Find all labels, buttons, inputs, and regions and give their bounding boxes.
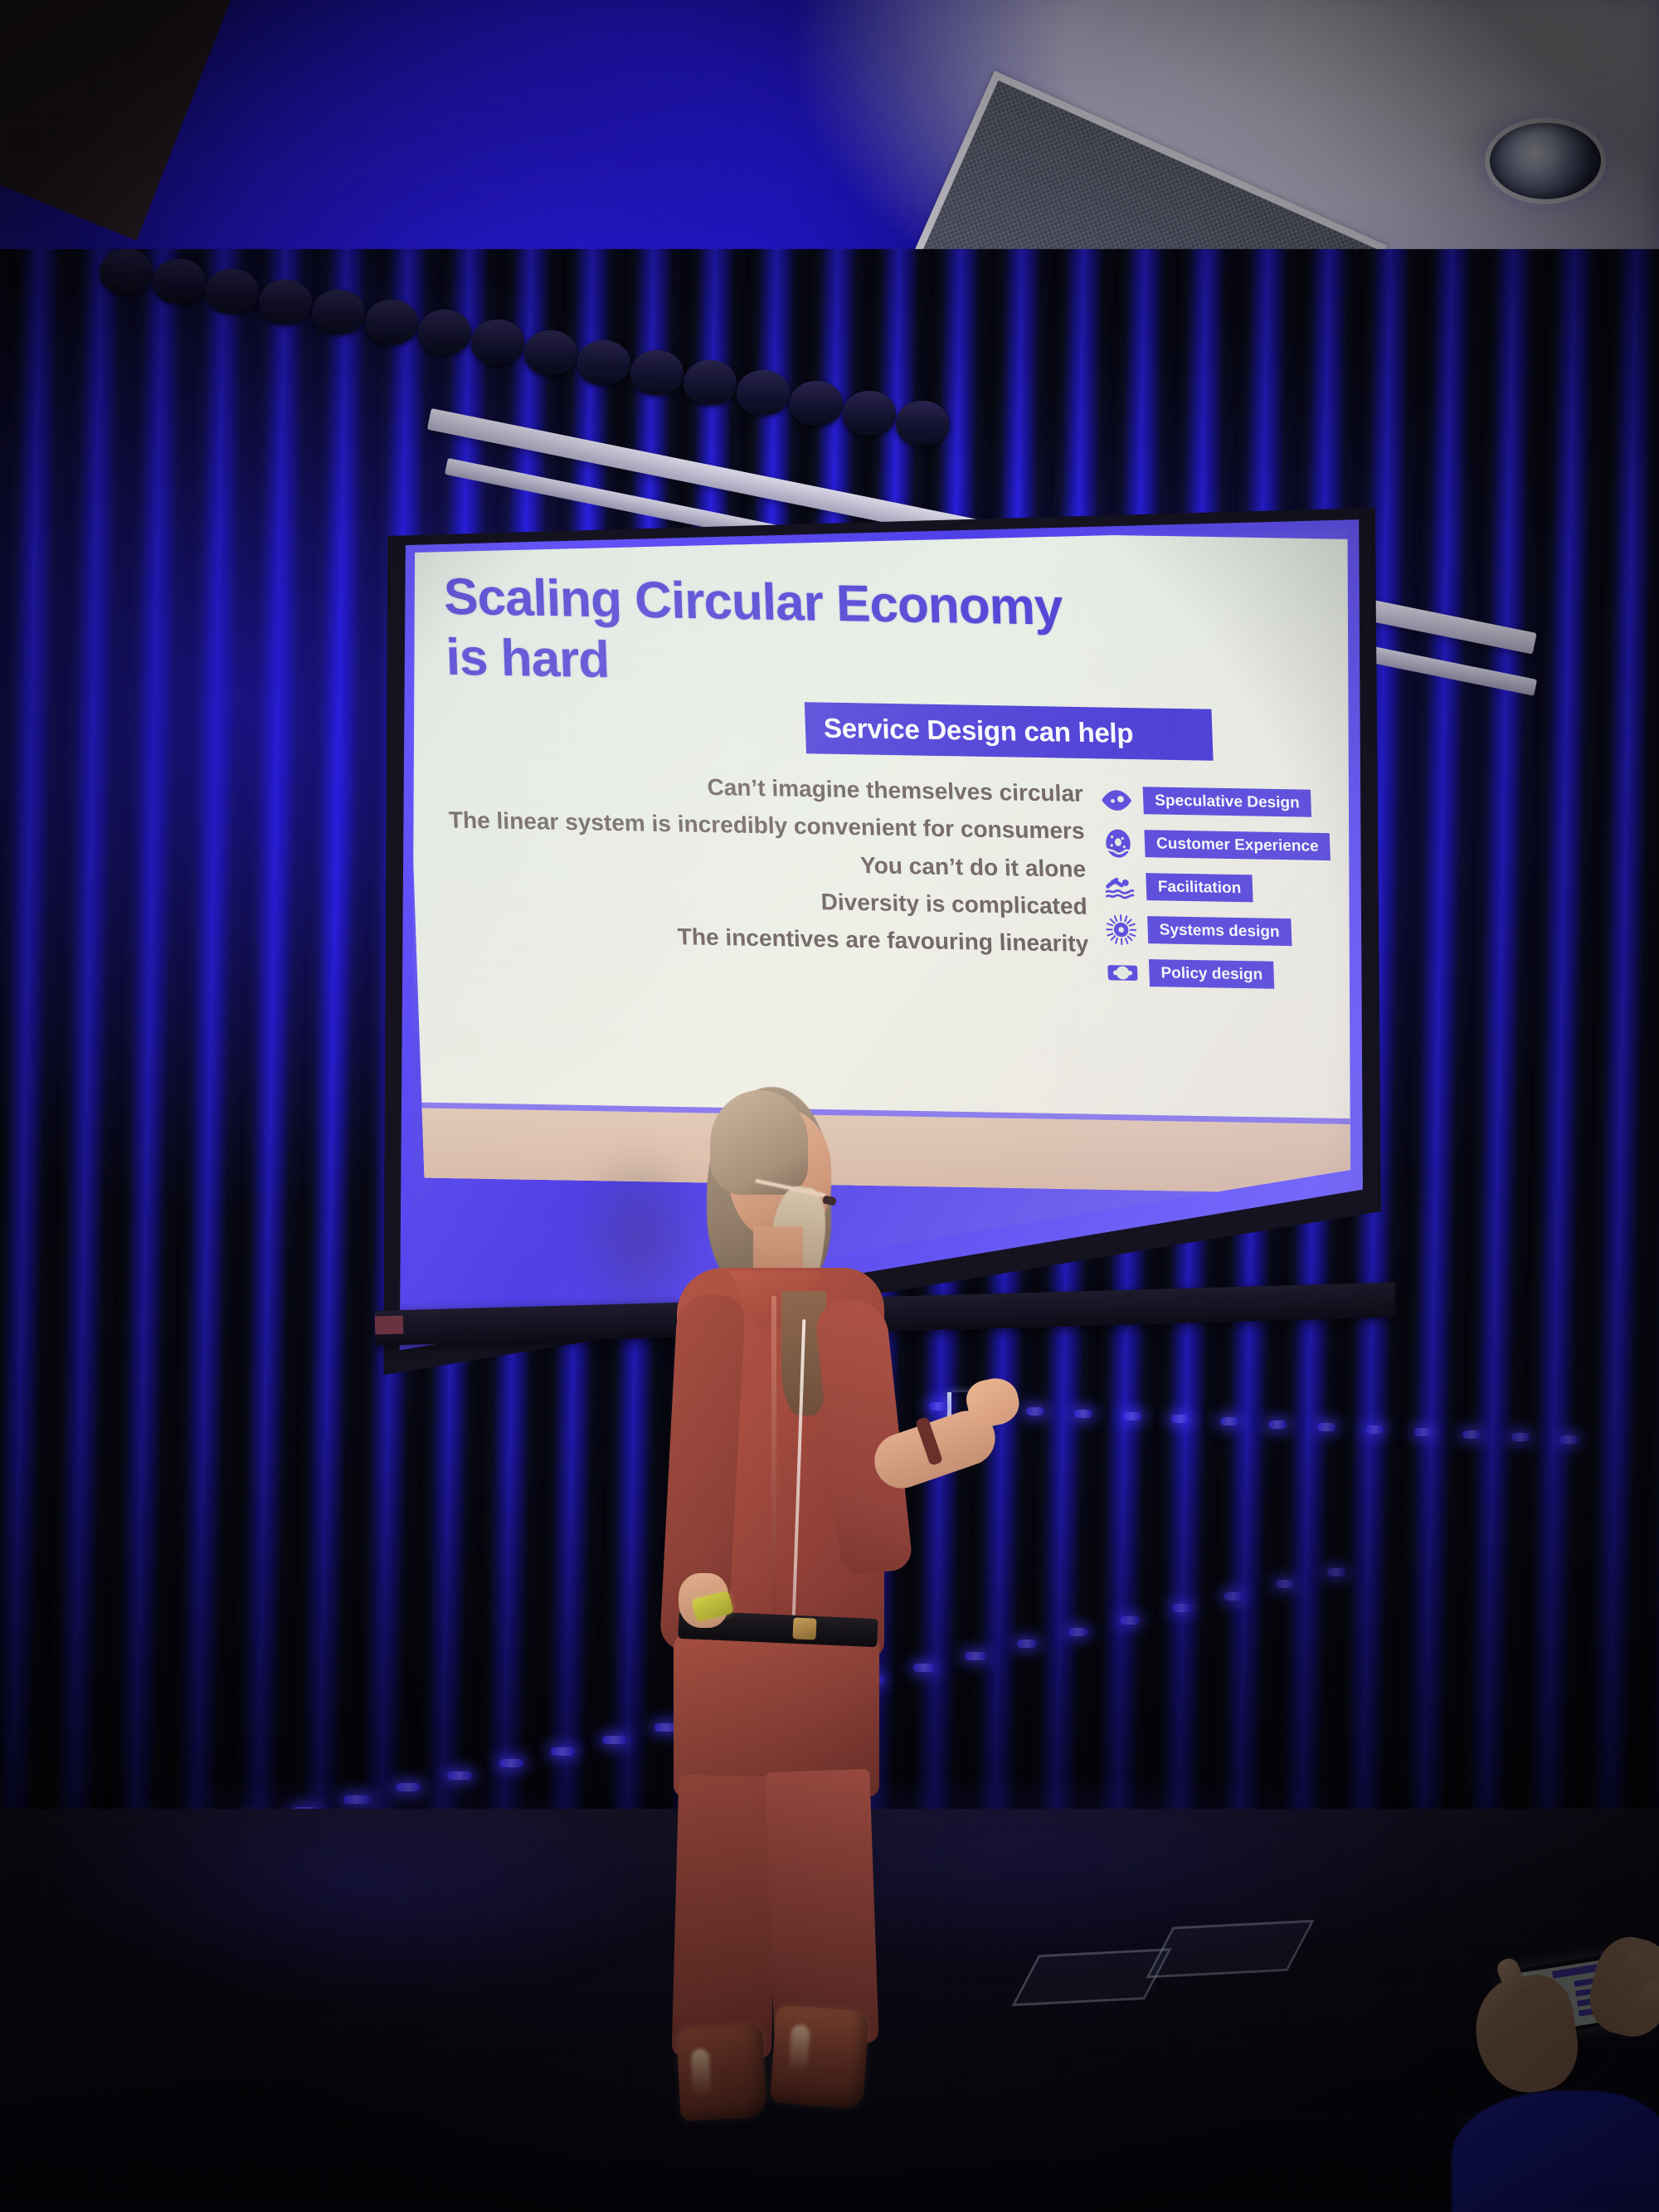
solution-row: Speculative Design [1099,780,1350,823]
service-design-banner-label: Service Design can help [823,713,1134,749]
curtain-pleat-head [312,290,365,334]
speaker [630,1087,979,2066]
curtain-pleat-head [418,309,471,354]
curtain-pleat-head [365,300,418,344]
speaker-right-leg [765,1769,878,2046]
audience-member [1468,1933,1659,2212]
solution-chip: Facilitation [1146,873,1253,903]
solution-chip: Systems design [1147,916,1292,947]
led-uplight [1317,1423,1335,1431]
speaker-left-leg [672,1774,779,2059]
slide-title: Scaling Circular Economy is hard [443,567,1078,699]
led-uplight [1120,1616,1140,1625]
screen-pull-tab [375,1316,404,1335]
led-uplight [1017,1640,1038,1648]
solution-chip: Speculative Design [1143,787,1312,817]
shirt-placket [771,1296,776,1628]
solution-chip: Policy design [1149,959,1275,990]
phone-slide-banner [1552,1964,1599,1979]
boot [770,2005,869,2109]
banknote-icon [1106,956,1140,990]
curtain-pleat-head [100,249,153,294]
solution-list: Speculative DesignCustomer ExperienceFac… [1099,780,1355,1000]
belt-buckle [792,1617,816,1640]
curtain-pleat-head [684,360,737,405]
curtain-pleat-head [259,280,312,324]
led-uplight [602,1736,626,1744]
led-uplight [1511,1433,1530,1441]
boot [676,2024,767,2121]
solution-row: Policy design [1106,953,1356,996]
led-uplight [1026,1407,1044,1415]
led-uplight [1559,1435,1578,1444]
curtain-pleat-head [153,259,206,304]
led-uplight [1327,1568,1345,1576]
led-uplight [1171,1415,1190,1423]
donut-icon [1101,826,1135,860]
led-uplight [1074,1410,1092,1418]
curtain-pleat-head [896,401,949,446]
led-uplight [1172,1604,1191,1612]
curtain-pleat-head [524,330,577,375]
curtain-pleat-head [577,340,630,385]
boot-highlight [690,2049,711,2098]
solution-row: Customer Experience [1101,823,1351,866]
service-design-banner: Service Design can help [805,702,1214,761]
solution-chip: Customer Experience [1144,830,1331,861]
curtain-pleat-head [630,350,684,395]
led-uplight [551,1747,575,1756]
led-uplight [499,1759,524,1767]
audience-sleeve [1452,2091,1659,2212]
solution-row: Facilitation [1102,866,1353,909]
led-uplight [1276,1580,1294,1588]
conference-stage-photo: Scaling Circular Economy is hard Service… [0,0,1659,2212]
curtain-pleat-head [471,319,524,364]
curtain-pleat-head [206,269,259,314]
led-uplight [1414,1428,1433,1436]
curtain-pleat-head [790,381,843,426]
led-uplight [1268,1420,1287,1429]
solution-row: Systems design [1104,909,1355,953]
led-uplight [1224,1592,1243,1601]
led-uplight [1365,1425,1384,1434]
led-uplight [1068,1628,1088,1636]
led-uplight [1462,1430,1481,1439]
led-uplight [1220,1417,1238,1425]
swimmer-icon [1102,870,1136,904]
problem-list: Can’t imagine themselves circularThe lin… [418,763,1089,963]
eye-icon [1099,783,1133,817]
downlight-icon [1485,118,1606,204]
led-uplight [1123,1412,1141,1420]
led-uplight [447,1771,472,1780]
curtain-pleat-head [737,370,790,415]
boot-highlight [789,2024,810,2073]
sun-gear-icon [1104,913,1138,947]
curtain-pleat-head [843,391,896,436]
